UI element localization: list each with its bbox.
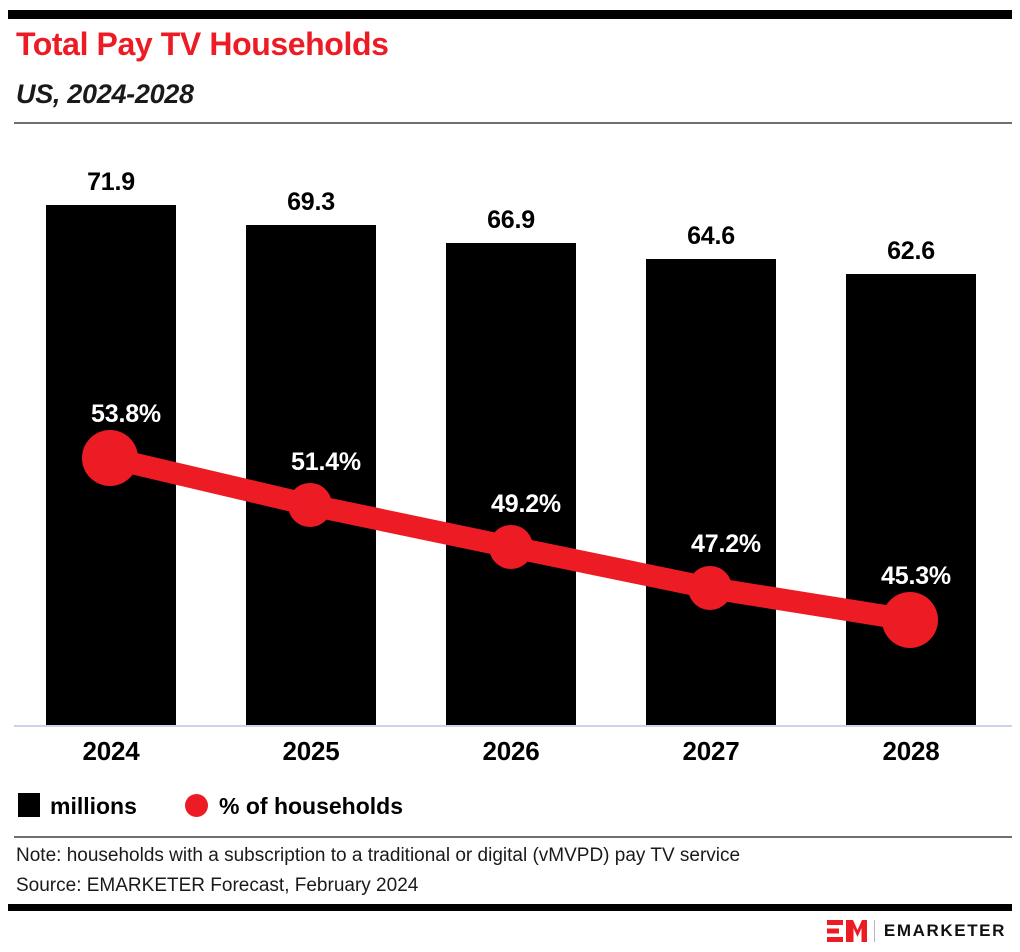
em-monogram-icon (827, 919, 867, 943)
x-tick-2027: 2027 (646, 736, 776, 767)
emarketer-logo: EMARKETER (827, 918, 1006, 944)
x-tick-2028: 2028 (846, 736, 976, 767)
line-marker-2026 (489, 525, 533, 569)
pct-value-label-2026: 49.2% (446, 490, 606, 519)
x-axis-baseline (14, 725, 1012, 727)
bar-value-label-2025: 69.3 (246, 188, 376, 217)
bar-2028 (846, 274, 976, 725)
logo-wordmark: EMARKETER (884, 921, 1006, 941)
legend-swatch-millions-icon (18, 793, 40, 817)
bar-2024 (46, 205, 176, 725)
pct-of-households-line (0, 0, 1020, 952)
bar-value-label-2028: 62.6 (846, 237, 976, 266)
bar-value-label-2027: 64.6 (646, 222, 776, 251)
pct-value-label-2024: 53.8% (46, 400, 206, 429)
top-rule (8, 10, 1012, 19)
pct-value-label-2025: 51.4% (246, 448, 406, 477)
line-marker-2027 (688, 566, 732, 610)
line-marker-2024 (82, 430, 138, 486)
pct-value-label-2028: 45.3% (836, 562, 996, 591)
header-divider (14, 122, 1012, 124)
bar-2027 (646, 259, 776, 725)
bar-2025 (246, 225, 376, 725)
chart-plot-area: 71.9 69.3 66.9 64.6 62.6 53.8% 51.4% 49.… (0, 0, 1020, 952)
chart-page: Total Pay TV Households US, 2024-2028 71… (0, 0, 1020, 952)
footnote-note: Note: households with a subscription to … (16, 845, 740, 867)
footnote-source: Source: EMARKETER Forecast, February 202… (16, 875, 418, 897)
x-tick-2025: 2025 (246, 736, 376, 767)
page-subtitle: US, 2024-2028 (16, 79, 194, 110)
line-marker-2025 (288, 483, 332, 527)
footer-divider-top (14, 836, 1012, 838)
line-marker-2028 (882, 592, 938, 648)
bar-value-label-2026: 66.9 (446, 206, 576, 235)
footer-divider-bottom (8, 904, 1012, 911)
logo-divider (874, 920, 875, 942)
legend-label-percent: % of households (219, 793, 403, 820)
legend-swatch-percent-icon (185, 794, 208, 817)
x-tick-2026: 2026 (446, 736, 576, 767)
x-tick-2024: 2024 (46, 736, 176, 767)
legend-label-millions: millions (50, 793, 137, 820)
bar-2026 (446, 243, 576, 725)
page-title: Total Pay TV Households (16, 26, 389, 63)
pct-value-label-2027: 47.2% (646, 530, 806, 559)
bar-value-label-2024: 71.9 (46, 168, 176, 197)
